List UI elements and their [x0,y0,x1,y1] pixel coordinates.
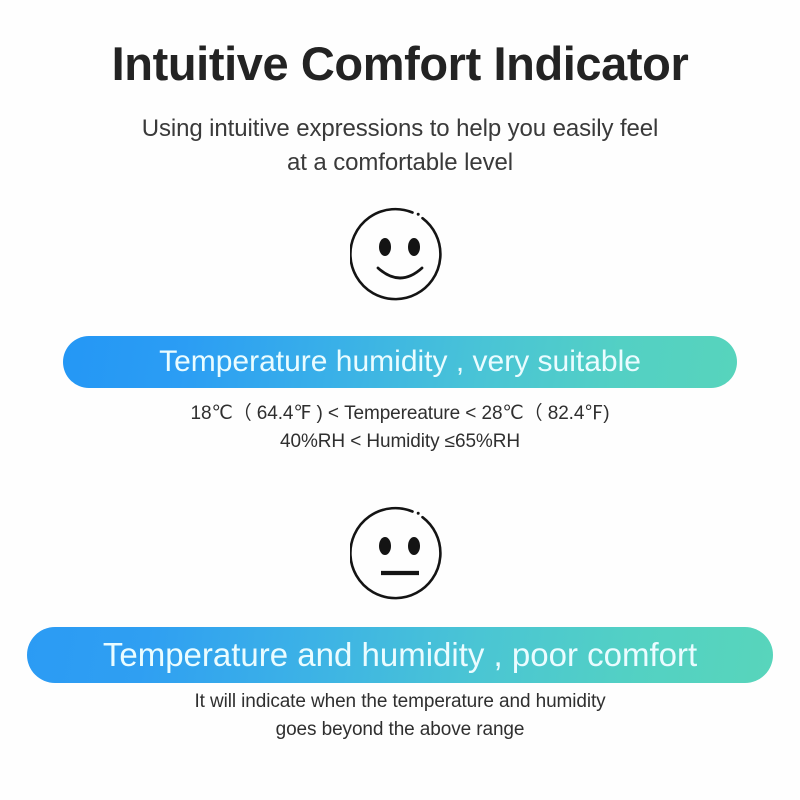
humidity-range-text: 40%RH < Humidity ≤65%RH [0,428,800,456]
neutral-face-icon [350,505,450,605]
page-title: Intuitive Comfort Indicator [0,38,800,90]
neutral-face-container [0,505,800,605]
comfort-banner-poor-label: Temperature and humidity , poor comfort [103,636,697,674]
discomfort-text-line-2: goes beyond the above range [0,716,800,744]
happy-face-container [0,206,800,306]
subtitle-line-1: Using intuitive expressions to help you … [142,115,659,142]
comfort-banner-good-label: Temperature humidity , very suitable [159,345,641,379]
page-subtitle: Using intuitive expressions to help you … [0,112,800,180]
happy-face-icon [350,206,450,306]
comfort-status-banner-good: Temperature humidity , very suitable [63,336,737,388]
subtitle-line-2: at a comfortable level [287,149,513,176]
header-block: Intuitive Comfort Indicator Using intuit… [0,38,800,180]
comfort-range-caption: 18℃（ 64.4℉ ) < Tempereature < 28℃（ 82.4℉… [0,400,800,455]
temperature-range-text: 18℃（ 64.4℉ ) < Tempereature < 28℃（ 82.4℉… [0,400,800,428]
comfort-status-banner-poor: Temperature and humidity , poor comfort [27,627,773,683]
discomfort-description-caption: It will indicate when the temperature an… [0,688,800,743]
product-infographic-page: Intuitive Comfort Indicator Using intuit… [0,0,800,800]
discomfort-text-line-1: It will indicate when the temperature an… [0,688,800,716]
